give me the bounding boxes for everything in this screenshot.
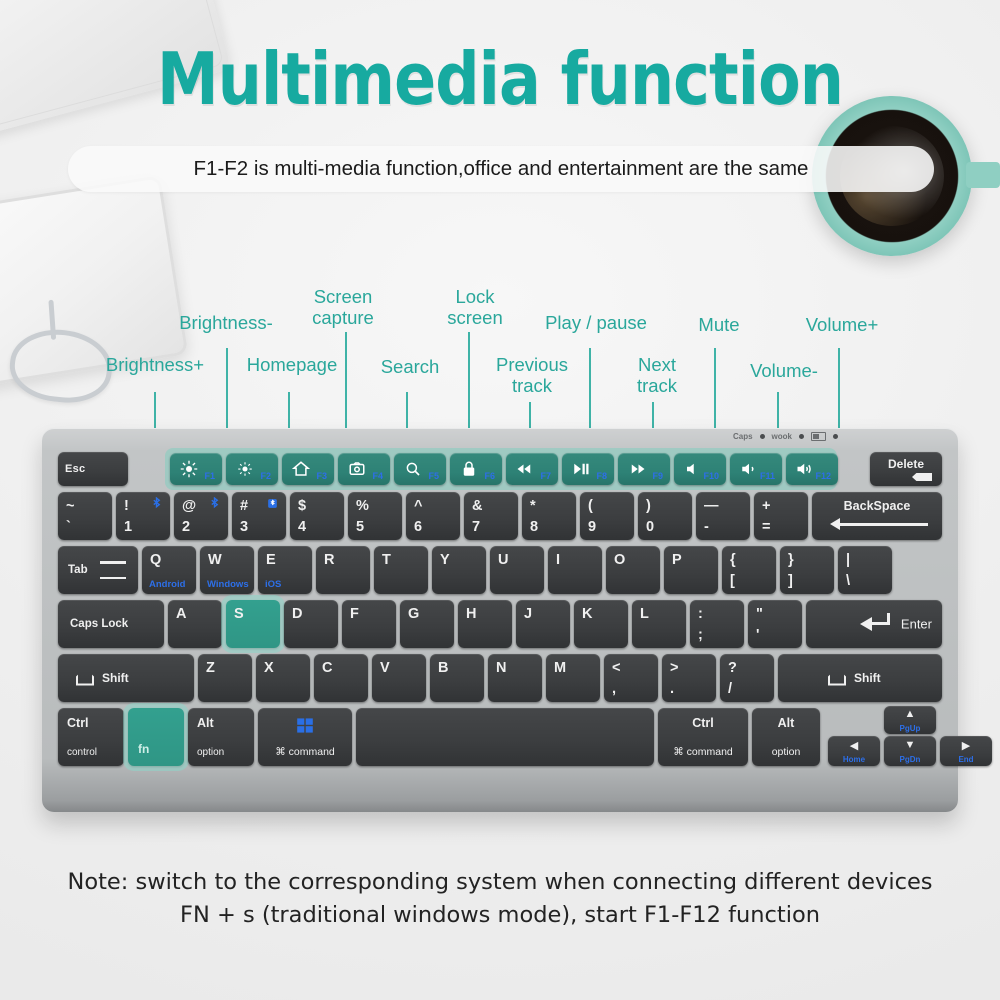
arrow-right-glyph-icon: ▶	[940, 739, 992, 752]
subtitle-banner: F1-F2 is multi-media function,office and…	[68, 146, 934, 192]
screen-capture-icon	[348, 460, 366, 478]
key-5-sub-label: 5	[356, 519, 364, 535]
f7-key[interactable]: F7	[506, 453, 558, 485]
key-f-label: F	[350, 606, 359, 622]
shift-left-label: Shift	[102, 671, 129, 685]
minus-key[interactable]: — -	[696, 492, 750, 540]
slash-key[interactable]: ? /	[720, 654, 774, 702]
key-j[interactable]: J	[516, 600, 570, 648]
key-s[interactable]: S	[226, 600, 280, 648]
f8-key[interactable]: F8	[562, 453, 614, 485]
tab-key-label: Tab	[68, 564, 88, 576]
battery-led-icon	[833, 434, 838, 439]
key-z[interactable]: Z	[198, 654, 252, 702]
key-i[interactable]: I	[548, 546, 602, 594]
backtick-sub-label: `	[66, 519, 71, 535]
alt-right-main-label: Alt	[752, 716, 820, 730]
shift-up-arrow-icon-right	[828, 671, 846, 686]
comma-key[interactable]: < ,	[604, 654, 658, 702]
semicolon-key[interactable]: : ;	[690, 600, 744, 648]
backspace-arrow-icon	[834, 523, 928, 526]
ctrl-right-key[interactable]: Ctrl ⌘ command	[658, 708, 748, 766]
key-4[interactable]: $ 4	[290, 492, 344, 540]
callout-next-track: Next track	[622, 354, 692, 396]
ctrl-right-sub-label: ⌘ command	[658, 746, 748, 758]
battery-icon	[811, 432, 826, 441]
f5-number-label: F5	[428, 471, 439, 481]
arrow-up-glyph-icon: ▲	[884, 708, 936, 720]
delete-arrow-icon	[912, 473, 932, 481]
backslash-sub-label: \	[846, 573, 850, 589]
bottom-note: Note: switch to the corresponding system…	[0, 866, 1000, 932]
arrow-right-key[interactable]: ▶ End	[940, 736, 992, 766]
key-8-sub-label: 8	[530, 519, 538, 535]
mode-indicator-label: wook	[772, 432, 792, 441]
key-9[interactable]: ( 9	[580, 492, 634, 540]
callout-previous-track: Previous track	[486, 354, 578, 396]
key-v[interactable]: V	[372, 654, 426, 702]
arrow-down-glyph-icon: ▼	[884, 739, 936, 751]
key-m[interactable]: M	[546, 654, 600, 702]
delete-key[interactable]: Delete	[870, 452, 942, 486]
f11-number-label: F11	[760, 471, 775, 481]
minus-sub-label: -	[704, 519, 709, 535]
key-w-windows-label: Windows	[207, 579, 249, 590]
minus-main-label: —	[704, 498, 719, 514]
backslash-key[interactable]: | \	[838, 546, 892, 594]
bluetooth-icon	[266, 497, 279, 510]
volume-down-icon	[740, 460, 758, 478]
caps-lock-key[interactable]: Caps Lock	[58, 600, 164, 648]
tab-key[interactable]: Tab	[58, 546, 138, 594]
key-0-sub-label: 0	[646, 519, 654, 535]
period-main-label: >	[670, 660, 678, 676]
enter-key-label: Enter	[901, 617, 932, 632]
bracket-left-sub-label: [	[730, 573, 735, 589]
brightness-up-icon	[180, 460, 198, 478]
key-6-main-label: ^	[414, 498, 422, 514]
period-sub-label: .	[670, 681, 674, 697]
arrow-left-glyph-icon: ◀	[828, 739, 880, 752]
key-g-label: G	[408, 606, 419, 622]
play-pause-icon	[572, 460, 590, 478]
arrow-up-key[interactable]: ▲ PgUp	[884, 706, 936, 734]
f4-key[interactable]: F4	[338, 453, 390, 485]
slash-sub-label: /	[728, 681, 732, 697]
quote-sub-label: '	[756, 627, 759, 643]
bracket-left-main-label: {	[730, 552, 736, 568]
f12-key[interactable]: F12	[786, 453, 838, 485]
f9-number-label: F9	[652, 471, 663, 481]
backslash-main-label: |	[846, 552, 850, 568]
key-x[interactable]: X	[256, 654, 310, 702]
slash-main-label: ?	[728, 660, 737, 676]
f2-key[interactable]: F2	[226, 453, 278, 485]
keyboard-deck: Caps wook Esc F1 F2 F3	[42, 428, 958, 812]
key-1[interactable]: ! 1	[116, 492, 170, 540]
key-0-main-label: )	[646, 498, 651, 514]
coffee-cup-handle	[966, 162, 1000, 188]
page-title: Multimedia function	[70, 42, 930, 116]
key-3[interactable]: # 3	[232, 492, 286, 540]
f6-key[interactable]: F6	[450, 453, 502, 485]
callout-brightness-down: Brightness-	[164, 312, 288, 333]
key-x-label: X	[264, 660, 274, 676]
alt-left-sub-label: option	[197, 747, 224, 758]
key-i-label: I	[556, 552, 560, 568]
bracket-right-main-label: }	[788, 552, 794, 568]
period-key[interactable]: > .	[662, 654, 716, 702]
ctrl-left-main-label: Ctrl	[67, 716, 89, 730]
key-w-label: W	[208, 552, 222, 568]
f3-key[interactable]: F3	[282, 453, 334, 485]
key-h[interactable]: H	[458, 600, 512, 648]
quote-main-label: "	[756, 606, 763, 622]
key-6[interactable]: ^ 6	[406, 492, 460, 540]
key-7[interactable]: & 7	[464, 492, 518, 540]
key-q[interactable]: Q Android	[142, 546, 196, 594]
equals-key[interactable]: + =	[754, 492, 808, 540]
backspace-key[interactable]: BackSpace	[812, 492, 942, 540]
key-u-label: U	[498, 552, 508, 568]
bracket-right-key[interactable]: } ]	[780, 546, 834, 594]
f12-number-label: F12	[815, 471, 831, 481]
key-f[interactable]: F	[342, 600, 396, 648]
key-c-label: C	[322, 660, 332, 676]
f1-key[interactable]: F1	[170, 453, 222, 485]
key-n-label: N	[496, 660, 506, 676]
key-4-main-label: $	[298, 498, 306, 514]
key-7-main-label: &	[472, 498, 482, 514]
key-q-android-label: Android	[149, 579, 185, 590]
key-r[interactable]: R	[316, 546, 370, 594]
key-o-label: O	[614, 552, 625, 568]
alt-left-main-label: Alt	[197, 716, 214, 730]
key-k[interactable]: K	[574, 600, 628, 648]
arrow-right-end-label: End	[940, 755, 992, 764]
key-5-main-label: %	[356, 498, 369, 514]
backtick-key[interactable]: ~ `	[58, 492, 112, 540]
bottom-note-line-1: Note: switch to the corresponding system…	[0, 866, 1000, 899]
volume-up-icon	[796, 460, 814, 478]
key-8-main-label: *	[530, 498, 536, 514]
key-o[interactable]: O	[606, 546, 660, 594]
key-b-label: B	[438, 660, 448, 676]
caps-lock-label: Caps Lock	[70, 618, 128, 630]
key-d[interactable]: D	[284, 600, 338, 648]
key-j-label: J	[524, 606, 532, 622]
callout-volume-up: Volume+	[794, 314, 890, 335]
key-2-sub-label: 2	[182, 519, 190, 535]
callout-brightness-up: Brightness+	[88, 354, 222, 375]
callout-screen-capture: Screen capture	[294, 286, 392, 328]
shift-right-label: Shift	[854, 671, 881, 685]
f1-number-label: F1	[204, 471, 215, 481]
key-b[interactable]: B	[430, 654, 484, 702]
key-v-label: V	[380, 660, 390, 676]
key-5[interactable]: % 5	[348, 492, 402, 540]
f4-number-label: F4	[372, 471, 383, 481]
command-left-key[interactable]: ⌘ command	[258, 708, 352, 766]
comma-sub-label: ,	[612, 681, 616, 697]
key-2[interactable]: @ 2	[174, 492, 228, 540]
esc-key-label: Esc	[65, 463, 85, 475]
caps-led-icon	[760, 434, 765, 439]
key-0[interactable]: ) 0	[638, 492, 692, 540]
enter-key[interactable]: Enter	[806, 600, 942, 648]
fn-key-label: fn	[138, 742, 149, 756]
previous-track-icon	[516, 460, 534, 478]
key-z-label: Z	[206, 660, 215, 676]
delete-key-label: Delete	[870, 457, 942, 471]
bottom-note-line-2: FN + s (traditional windows mode), start…	[0, 899, 1000, 932]
caps-indicator-label: Caps	[733, 432, 753, 441]
key-a-label: A	[176, 606, 186, 622]
key-y[interactable]: Y	[432, 546, 486, 594]
key-q-label: Q	[150, 552, 161, 568]
backspace-key-label: BackSpace	[812, 499, 942, 513]
key-l[interactable]: L	[632, 600, 686, 648]
f8-number-label: F8	[596, 471, 607, 481]
key-n[interactable]: N	[488, 654, 542, 702]
tab-arrow-icon-2	[100, 577, 126, 580]
key-h-label: H	[466, 606, 476, 622]
callout-homepage: Homepage	[232, 354, 352, 375]
status-indicators: Caps wook	[733, 432, 838, 441]
f10-number-label: F10	[703, 471, 719, 481]
mode-led-icon	[799, 434, 804, 439]
home-icon	[292, 460, 310, 478]
esc-key[interactable]: Esc	[58, 452, 128, 486]
key-t-label: T	[382, 552, 391, 568]
key-1-sub-label: 1	[124, 519, 132, 535]
alt-right-sub-label: option	[752, 746, 820, 758]
f5-key[interactable]: F5	[394, 453, 446, 485]
shift-up-arrow-icon	[76, 671, 94, 686]
f3-number-label: F3	[316, 471, 327, 481]
lock-icon	[460, 460, 478, 478]
key-w[interactable]: W Windows	[200, 546, 254, 594]
key-e-label: E	[266, 552, 276, 568]
arrow-down-pgdn-label: PgDn	[884, 755, 936, 764]
f7-number-label: F7	[540, 471, 551, 481]
key-2-main-label: @	[182, 498, 196, 514]
key-3-main-label: #	[240, 498, 248, 514]
semicolon-main-label: :	[698, 606, 703, 622]
key-y-label: Y	[440, 552, 450, 568]
f2-number-label: F2	[260, 471, 271, 481]
key-e[interactable]: E iOS	[258, 546, 312, 594]
f10-key[interactable]: F10	[674, 453, 726, 485]
ctrl-left-key[interactable]: Ctrl control	[58, 708, 124, 766]
key-4-sub-label: 4	[298, 519, 306, 535]
fn-key[interactable]: fn	[128, 708, 184, 766]
semicolon-sub-label: ;	[698, 627, 703, 643]
arrow-left-home-label: Home	[828, 755, 880, 764]
key-a[interactable]: A	[168, 600, 222, 648]
key-d-label: D	[292, 606, 302, 622]
callout-volume-down: Volume-	[742, 360, 826, 381]
enter-arrow-riser-icon	[887, 613, 890, 625]
key-s-label: S	[234, 606, 244, 622]
arrow-down-key[interactable]: ▼ PgDn	[884, 736, 936, 766]
keyboard: Caps wook Esc F1 F2 F3	[42, 428, 958, 812]
command-left-sub-label: ⌘ command	[258, 746, 352, 758]
equals-sub-label: =	[762, 519, 770, 535]
brightness-down-icon	[236, 460, 254, 478]
arrow-up-pgup-label: PgUp	[884, 724, 936, 733]
product-image-stage: Multimedia function F1-F2 is multi-media…	[0, 0, 1000, 1000]
mute-icon	[684, 460, 702, 478]
shift-right-key[interactable]: Shift	[778, 654, 942, 702]
key-t[interactable]: T	[374, 546, 428, 594]
bracket-right-sub-label: ]	[788, 573, 793, 589]
subtitle-text: F1-F2 is multi-media function,office and…	[194, 157, 809, 181]
bluetooth-icon	[150, 497, 163, 510]
key-9-main-label: (	[588, 498, 593, 514]
key-u[interactable]: U	[490, 546, 544, 594]
key-g[interactable]: G	[400, 600, 454, 648]
next-track-icon	[628, 460, 646, 478]
equals-main-label: +	[762, 498, 770, 514]
callout-play-pause: Play / pause	[530, 312, 662, 333]
key-k-label: K	[582, 606, 592, 622]
key-3-sub-label: 3	[240, 519, 248, 535]
callout-lock-screen: Lock screen	[436, 286, 514, 328]
key-p[interactable]: P	[664, 546, 718, 594]
tab-arrow-icon	[100, 561, 126, 564]
space-key[interactable]	[356, 708, 654, 766]
arrow-left-key[interactable]: ◀ Home	[828, 736, 880, 766]
bluetooth-icon	[208, 497, 221, 510]
key-9-sub-label: 9	[588, 519, 596, 535]
callout-search: Search	[366, 356, 454, 377]
alt-left-key[interactable]: Alt option	[188, 708, 254, 766]
key-6-sub-label: 6	[414, 519, 422, 535]
backspace-arrow-head-icon	[830, 518, 840, 530]
key-r-label: R	[324, 552, 334, 568]
shift-left-key[interactable]: Shift	[58, 654, 194, 702]
ctrl-left-sub-label: control	[67, 747, 97, 758]
ctrl-right-main-label: Ctrl	[658, 716, 748, 730]
backtick-main-label: ~	[66, 498, 74, 514]
comma-main-label: <	[612, 660, 620, 676]
key-7-sub-label: 7	[472, 519, 480, 535]
f9-key[interactable]: F9	[618, 453, 670, 485]
f6-number-label: F6	[484, 471, 495, 481]
key-1-main-label: !	[124, 498, 129, 514]
key-e-ios-label: iOS	[265, 579, 281, 590]
windows-logo-icon	[297, 717, 314, 734]
bracket-left-key[interactable]: { [	[722, 546, 776, 594]
key-c[interactable]: C	[314, 654, 368, 702]
key-l-label: L	[640, 606, 649, 622]
key-8[interactable]: * 8	[522, 492, 576, 540]
callout-mute: Mute	[688, 314, 750, 335]
search-icon	[404, 460, 422, 478]
quote-key[interactable]: " '	[748, 600, 802, 648]
f11-key[interactable]: F11	[730, 453, 782, 485]
key-m-label: M	[554, 660, 566, 676]
alt-right-key[interactable]: Alt option	[752, 708, 820, 766]
key-p-label: P	[672, 552, 682, 568]
